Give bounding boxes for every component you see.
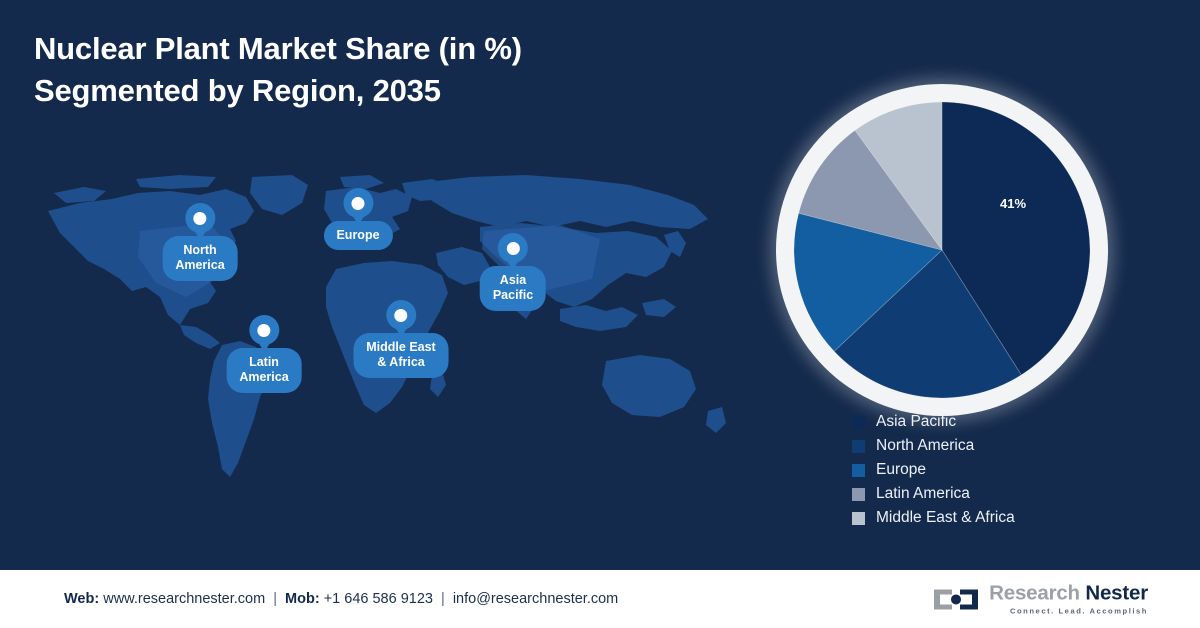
map-marker-label-asia-pacific: Asia Pacific	[480, 266, 546, 311]
legend-label: North America	[876, 437, 974, 455]
map-marker-label-middle-east-africa: Middle East & Africa	[353, 333, 448, 378]
legend-item-europe[interactable]: Europe	[852, 460, 1015, 480]
legend-swatch-icon	[852, 416, 865, 429]
footer-mob-value: +1 646 586 9123	[324, 591, 433, 607]
legend-item-latin-america[interactable]: Latin America	[852, 484, 1015, 504]
footer-web-label: Web:	[64, 591, 99, 607]
footer-separator-1: |	[269, 591, 281, 607]
logo-text: Research Nester Connect. Lead. Accomplis…	[989, 583, 1148, 614]
page-title-line-1: Nuclear Plant Market Share (in %)	[34, 28, 674, 70]
legend-label: Latin America	[876, 485, 970, 503]
pie-svg	[794, 102, 1090, 398]
pie-slice-label-asia-pacific: 41%	[1000, 196, 1026, 211]
map-pin-icon	[498, 233, 528, 263]
legend-swatch-icon	[852, 512, 865, 525]
chart-legend: Asia Pacific North America Europe Latin …	[852, 412, 1015, 532]
map-pin-icon	[249, 315, 279, 345]
legend-item-asia-pacific[interactable]: Asia Pacific	[852, 412, 1015, 432]
page-title: Nuclear Plant Market Share (in %) Segmen…	[34, 28, 674, 112]
footer-contact-info: Web: www.researchnester.com | Mob: +1 64…	[64, 591, 618, 607]
map-marker-asia-pacific[interactable]: Asia Pacific	[480, 233, 546, 311]
footer-mob-label: Mob:	[285, 591, 320, 607]
map-marker-label-north-america: North America	[162, 236, 237, 281]
logo-name: Research Nester	[989, 583, 1148, 604]
logo-bracket-icon	[932, 586, 980, 612]
legend-swatch-icon	[852, 440, 865, 453]
legend-swatch-icon	[852, 488, 865, 501]
world-map: North America Europe Asia Pacific Latin …	[40, 175, 740, 505]
infographic-canvas: Nuclear Plant Market Share (in %) Segmen…	[0, 0, 1200, 628]
legend-label: Asia Pacific	[876, 413, 956, 431]
map-pin-icon	[343, 188, 373, 218]
map-marker-label-europe: Europe	[323, 221, 392, 250]
footer-separator-2: |	[437, 591, 449, 607]
legend-label: Europe	[876, 461, 926, 479]
legend-item-middle-east-africa[interactable]: Middle East & Africa	[852, 508, 1015, 528]
footer-email[interactable]: info@researchnester.com	[453, 591, 618, 607]
map-marker-label-latin-america: Latin America	[226, 348, 301, 393]
pie-chart-slices	[794, 102, 1090, 398]
map-marker-north-america[interactable]: North America	[162, 203, 237, 281]
legend-swatch-icon	[852, 464, 865, 477]
footer-bar: Web: www.researchnester.com | Mob: +1 64…	[0, 570, 1200, 628]
map-marker-europe[interactable]: Europe	[323, 188, 392, 250]
map-pin-icon	[185, 203, 215, 233]
logo-name-part2: Nester	[1085, 581, 1148, 604]
page-title-line-2: Segmented by Region, 2035	[34, 70, 674, 112]
research-nester-logo[interactable]: Research Nester Connect. Lead. Accomplis…	[932, 583, 1148, 614]
footer-web-value[interactable]: www.researchnester.com	[103, 591, 265, 607]
logo-tagline: Connect. Lead. Accomplish	[989, 607, 1148, 615]
map-pin-icon	[386, 300, 416, 330]
legend-item-north-america[interactable]: North America	[852, 436, 1015, 456]
legend-label: Middle East & Africa	[876, 509, 1015, 527]
logo-name-part1: Research	[989, 581, 1080, 604]
pie-chart: 41%	[762, 72, 1122, 404]
map-marker-middle-east-africa[interactable]: Middle East & Africa	[353, 300, 448, 378]
map-marker-latin-america[interactable]: Latin America	[226, 315, 301, 393]
